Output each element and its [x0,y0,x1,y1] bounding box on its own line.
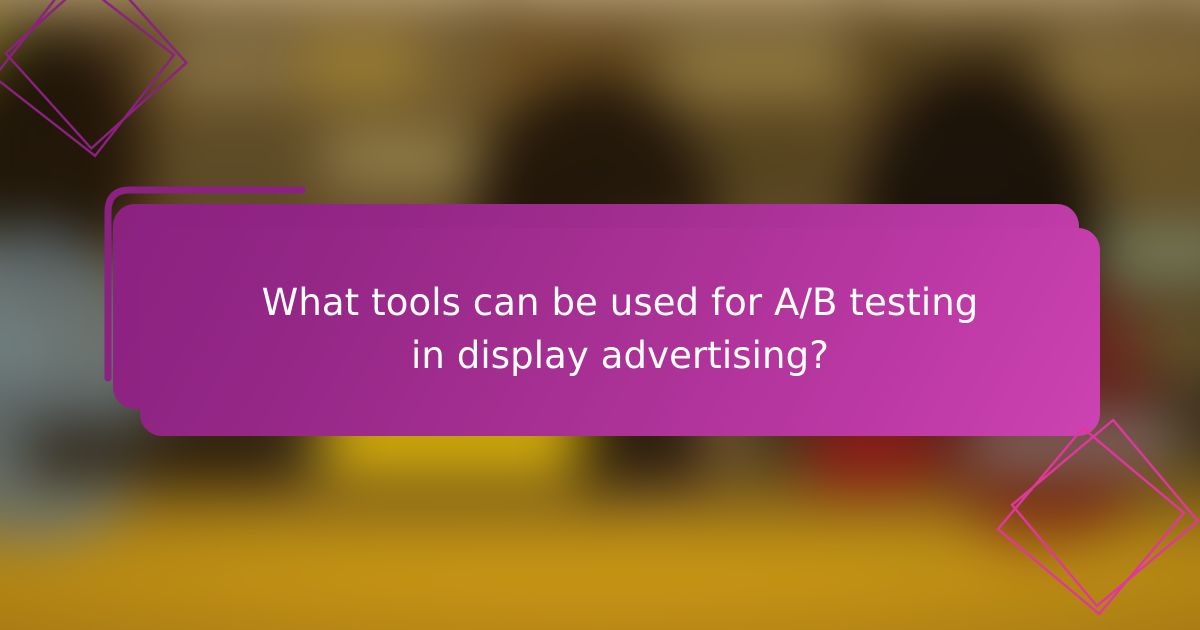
question-card: What tools can be used for A/B testing i… [140,228,1100,436]
diamond-outline-a [0,0,174,156]
diamond-pair-bottom-right [985,425,1200,630]
diamond-pair-top-left [0,0,220,192]
question-card-canvas: What tools can be used for A/B testing i… [0,0,1200,630]
question-text: What tools can be used for A/B testing i… [240,277,1000,382]
